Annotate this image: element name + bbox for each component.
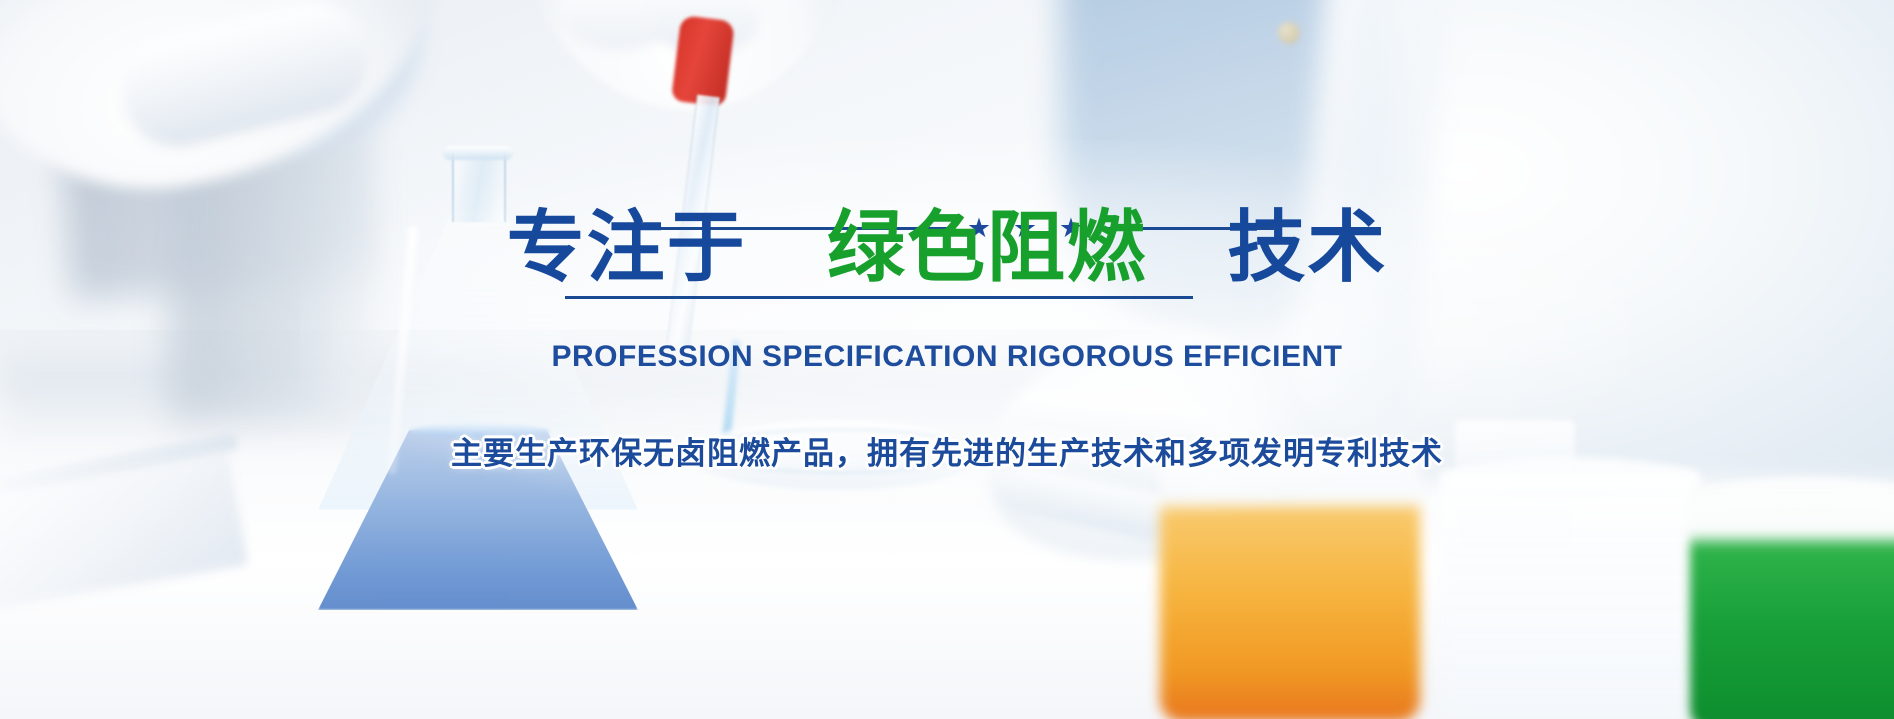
hero-banner: ★ ★ ★ 专注于 绿色阻燃 技术 PROFESSION SPECIFICATI… (0, 0, 1894, 719)
headline-part-green-flame-retardant: 绿色阻燃 (827, 203, 1147, 293)
banner-headline: 专注于 绿色阻燃 技术 (0, 205, 1894, 291)
banner-content: ★ ★ ★ 专注于 绿色阻燃 技术 PROFESSION SPECIFICATI… (0, 0, 1894, 719)
banner-tagline-chinese: 主要生产环保无卤阻燃产品，拥有先进的生产技术和多项发明专利技术 (0, 428, 1894, 473)
divider-line-bottom (565, 296, 1193, 299)
headline-part-focus: 专注于 (507, 203, 747, 293)
headline-part-technology: 技术 (1227, 203, 1387, 293)
banner-subtitle-english: PROFESSION SPECIFICATION RIGOROUS EFFICI… (0, 340, 1894, 374)
